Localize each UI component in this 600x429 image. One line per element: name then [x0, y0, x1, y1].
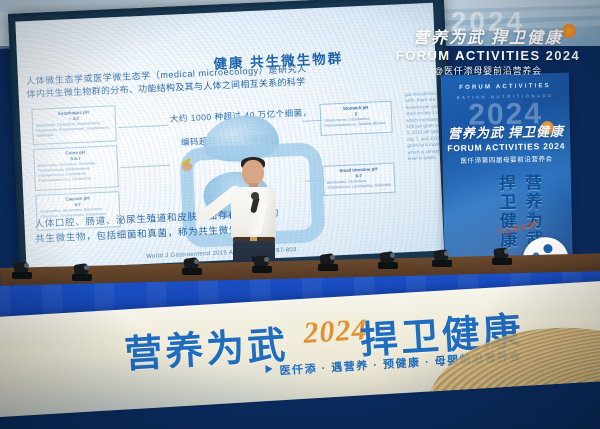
conference-stage-photo: 健康 共生微生物群 人体微生态学或医学微生态学（medical microeco…: [0, 0, 600, 429]
microphone-head-icon: [251, 192, 259, 200]
watermark-calligraphy: 营养为武 捍卫健康: [382, 24, 594, 48]
watermark-forum-line: FORUM ACTIVITIES 2024: [382, 48, 594, 63]
slide-box-stomach: Stomach pH 2 Streptococcus, Lactobacillu…: [319, 101, 392, 136]
slide-box-colon: Colon pH 5-6.7 Bacteroides, Clostridium,…: [33, 145, 119, 191]
connector-line: [302, 120, 322, 122]
stage-light: [72, 264, 92, 281]
box-species: Bacteroides, Clostridium, Prevotella, Po…: [38, 160, 115, 183]
box-species: Streptococcus, Lactobacillus, Peptostrep…: [324, 116, 388, 129]
stage-light: [492, 248, 512, 265]
stage-light: [378, 252, 398, 269]
connector-line: [118, 125, 168, 128]
side-banner-vertical-right: 捍卫健康: [496, 174, 517, 250]
box-species: Bacteroides, Clostridium, Megasphaera, P…: [36, 120, 113, 138]
watermark-handle: @医仟添母婴前沿营养会: [382, 64, 594, 77]
stage-light: [432, 250, 452, 267]
slide-box-esophagus: Esophagus pH ~ 4.0 Bacteroides, Clostrid…: [31, 105, 117, 145]
stage-light: [12, 262, 32, 279]
stage-light: [182, 258, 202, 275]
watermark-logo: 2024 营养为武 捍卫健康 FORUM ACTIVITIES 2024 @医仟…: [382, 4, 594, 76]
connector-line: [120, 165, 170, 168]
side-banner-forum-top: FORUM ACTIVITIES: [441, 83, 569, 92]
side-banner-calligraphy: 营养为武 捍卫健康: [442, 121, 570, 143]
stage-light: [252, 256, 272, 273]
box-species: Bacteroides, Clostridium, Streptococcus,…: [327, 178, 391, 191]
side-banner-forum-line: FORUM ACTIVITIES 2024: [442, 141, 570, 154]
stage-light: [318, 254, 338, 271]
triangle-marker-icon: [265, 365, 272, 373]
slide-box-small-intestine: Small intestine pH 6-7 Bacteroides, Clos…: [322, 163, 395, 196]
mother-head-icon: [543, 244, 552, 253]
